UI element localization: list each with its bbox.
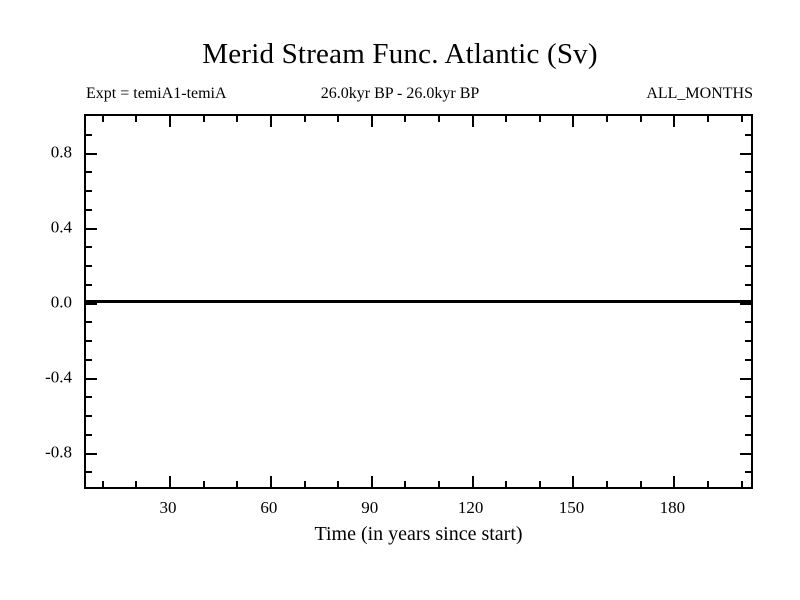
x-tick-bottom-50 xyxy=(236,481,238,487)
x-tick-top-160 xyxy=(606,116,608,122)
y-tick-left-0.3 xyxy=(86,246,92,248)
y-tick-right--0.7 xyxy=(745,434,751,436)
x-tick-top-190 xyxy=(707,116,709,122)
y-tick-right--0.5 xyxy=(745,396,751,398)
y-tick-right-0.2 xyxy=(745,265,751,267)
x-tick-top-180 xyxy=(673,116,675,127)
x-tick-top-20 xyxy=(135,116,137,122)
y-tick-right--0.3 xyxy=(745,359,751,361)
x-tick-top-150 xyxy=(572,116,574,127)
x-tick-bottom-190 xyxy=(707,481,709,487)
y-tick-right--0.9 xyxy=(745,471,751,473)
y-tick-left-0.7 xyxy=(86,171,92,173)
x-tick-top-120 xyxy=(472,116,474,127)
y-tick-left-0.8 xyxy=(86,153,97,155)
x-tick-top-40 xyxy=(203,116,205,122)
x-axis-title: Time (in years since start) xyxy=(84,523,753,546)
x-tick-bottom-30 xyxy=(169,476,171,487)
y-tick-label: 0.4 xyxy=(0,217,72,236)
x-tick-bottom-90 xyxy=(371,476,373,487)
x-tick-bottom-60 xyxy=(270,476,272,487)
y-tick-left--0.4 xyxy=(86,378,97,380)
y-tick-label: 0.8 xyxy=(0,142,72,161)
x-tick-top-90 xyxy=(371,116,373,127)
y-tick-left-0.6 xyxy=(86,190,92,192)
x-tick-top-70 xyxy=(304,116,306,122)
x-tick-bottom-140 xyxy=(539,481,541,487)
y-tick-right--0.2 xyxy=(745,340,751,342)
y-tick-right-0.6 xyxy=(745,190,751,192)
x-tick-top-200 xyxy=(741,116,743,122)
y-tick-left-0 xyxy=(86,303,97,305)
y-tick-left--0.6 xyxy=(86,415,92,417)
x-tick-bottom-150 xyxy=(572,476,574,487)
page-title: Merid Stream Func. Atlantic (Sv) xyxy=(0,38,800,70)
y-tick-left--0.3 xyxy=(86,359,92,361)
x-tick-label: 30 xyxy=(160,498,177,517)
x-tick-bottom-130 xyxy=(505,481,507,487)
y-tick-right-0.5 xyxy=(745,209,751,211)
y-tick-left--0.5 xyxy=(86,396,92,398)
y-tick-label: -0.8 xyxy=(0,442,72,461)
y-tick-right-0.9 xyxy=(745,134,751,136)
plot-area xyxy=(84,114,753,489)
y-tick-left-0.9 xyxy=(86,134,92,136)
y-tick-right--0.8 xyxy=(740,453,751,455)
x-tick-bottom-110 xyxy=(438,481,440,487)
y-tick-right-0.8 xyxy=(740,153,751,155)
x-tick-label: 120 xyxy=(458,498,484,517)
x-tick-bottom-40 xyxy=(203,481,205,487)
x-tick-top-140 xyxy=(539,116,541,122)
x-tick-bottom-180 xyxy=(673,476,675,487)
y-tick-left--0.1 xyxy=(86,321,92,323)
x-tick-bottom-10 xyxy=(102,481,104,487)
x-tick-top-50 xyxy=(236,116,238,122)
y-tick-right--0.1 xyxy=(745,321,751,323)
y-tick-left-0.5 xyxy=(86,209,92,211)
y-tick-label: 0.0 xyxy=(0,292,72,311)
x-tick-top-130 xyxy=(505,116,507,122)
x-tick-top-30 xyxy=(169,116,171,127)
subtitle-season: ALL_MONTHS xyxy=(0,85,753,103)
x-tick-top-80 xyxy=(337,116,339,122)
y-tick-left-0.1 xyxy=(86,284,92,286)
y-tick-right-0.7 xyxy=(745,171,751,173)
x-tick-top-110 xyxy=(438,116,440,122)
y-tick-right-0.1 xyxy=(745,284,751,286)
x-tick-label: 90 xyxy=(361,498,378,517)
x-tick-top-170 xyxy=(640,116,642,122)
x-tick-top-100 xyxy=(404,116,406,122)
y-tick-right-0 xyxy=(740,303,751,305)
x-tick-bottom-120 xyxy=(472,476,474,487)
figure-canvas: Merid Stream Func. Atlantic (Sv) Expt = … xyxy=(0,0,800,600)
y-tick-right-0.3 xyxy=(745,246,751,248)
x-tick-label: 150 xyxy=(559,498,585,517)
x-tick-top-10 xyxy=(102,116,104,122)
y-tick-left-0.2 xyxy=(86,265,92,267)
x-tick-bottom-80 xyxy=(337,481,339,487)
x-tick-label: 60 xyxy=(260,498,277,517)
x-tick-bottom-170 xyxy=(640,481,642,487)
y-tick-left--0.9 xyxy=(86,471,92,473)
x-tick-bottom-160 xyxy=(606,481,608,487)
x-tick-label: 180 xyxy=(660,498,686,517)
x-tick-top-60 xyxy=(270,116,272,127)
x-tick-bottom-20 xyxy=(135,481,137,487)
y-tick-right-0.4 xyxy=(740,228,751,230)
y-tick-label: -0.4 xyxy=(0,367,72,386)
x-tick-bottom-200 xyxy=(741,481,743,487)
x-tick-bottom-100 xyxy=(404,481,406,487)
x-tick-bottom-70 xyxy=(304,481,306,487)
data-series-layer xyxy=(86,116,751,487)
y-tick-left-0.4 xyxy=(86,228,97,230)
y-tick-left--0.2 xyxy=(86,340,92,342)
y-tick-right--0.6 xyxy=(745,415,751,417)
y-tick-left--0.8 xyxy=(86,453,97,455)
y-tick-right--0.4 xyxy=(740,378,751,380)
y-tick-left--0.7 xyxy=(86,434,92,436)
